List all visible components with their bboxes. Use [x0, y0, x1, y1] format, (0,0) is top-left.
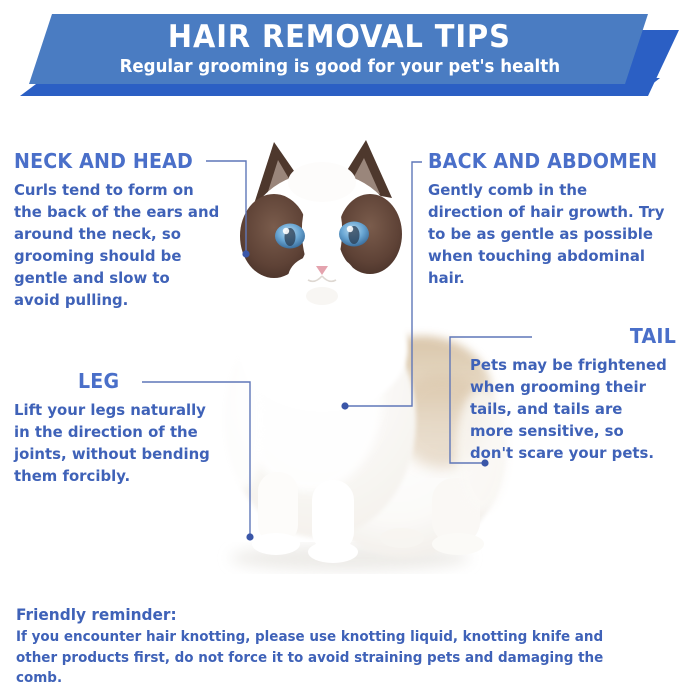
cat-forehead [288, 162, 356, 202]
callout-heading-leg: LEG [78, 370, 221, 392]
banner-main-layer [29, 14, 648, 84]
cat-paw-right [432, 533, 484, 555]
callout-heading-neck-and-head: NECK AND HEAD [14, 150, 218, 172]
banner-shape [0, 0, 679, 100]
footer-body: If you encounter hair knotting, please u… [16, 627, 634, 689]
callout-body-neck-and-head: Curls tend to form on the back of the ea… [14, 179, 220, 311]
callout-leg: LEG Lift your legs naturally in the dire… [14, 370, 229, 487]
callout-body-tail: Pets may be frightened when grooming the… [470, 354, 668, 464]
callout-heading-back-and-abdomen: BACK AND ABDOMEN [428, 150, 664, 172]
callout-heading-tail: TAIL [480, 325, 676, 347]
cat-paw-far [380, 528, 424, 548]
callout-back-and-abdomen: BACK AND ABDOMEN Gently comb in the dire… [428, 150, 676, 289]
callout-body-leg: Lift your legs naturally in the directio… [14, 399, 220, 487]
callout-neck-and-head: NECK AND HEAD Curls tend to form on the … [14, 150, 229, 311]
header-banner: HAIR REMOVAL TIPS Regular grooming is go… [0, 0, 679, 100]
cat-paw-mid [308, 541, 358, 563]
cat-eye-glint-right [347, 226, 353, 232]
callout-tail: TAIL Pets may be frightened when groomin… [470, 325, 676, 464]
footer-title: Friendly reminder: [16, 605, 640, 625]
cat-eye-glint-left [283, 228, 289, 234]
footer-reminder: Friendly reminder: If you encounter hair… [16, 605, 666, 689]
cat-chin [306, 287, 338, 305]
cat-paw-left [252, 533, 300, 555]
callout-body-back-and-abdomen: Gently comb in the direction of hair gro… [428, 179, 666, 289]
